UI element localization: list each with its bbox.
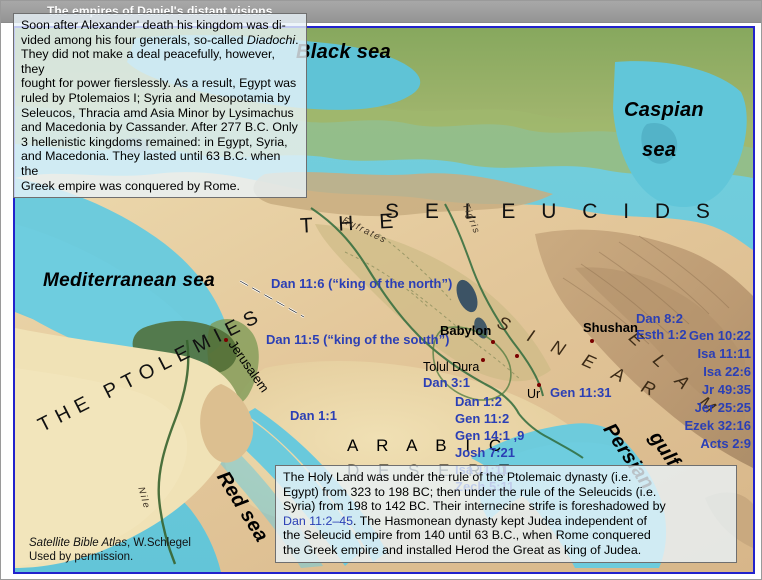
credit-author: , W.Schlegel	[127, 537, 191, 549]
info-top-line-1: Soon after Alexander' death his kingdom …	[21, 18, 300, 33]
credit-line-1: Satellite Bible Atlas, W.Schlegel	[29, 536, 191, 550]
info-top-line-10: Greek empire was conquered by Rome.	[21, 179, 300, 194]
city-dot-babylon	[491, 340, 495, 344]
info-top-line-2: vided among his four generals, so-called…	[21, 33, 300, 48]
info-top-line-9: and Macedonia. They lasted until 63 B.C.…	[21, 149, 300, 178]
map-credit: Satellite Bible Atlas, W.Schlegel Used b…	[29, 536, 191, 564]
info-bottom-line-4: Dan 11:2–45. The Hasmonean dynasty kept …	[283, 514, 730, 529]
info-box-top: Soon after Alexander' death his kingdom …	[13, 13, 307, 198]
credit-atlas-name: Satellite Bible Atlas	[29, 537, 127, 549]
info-top-line-3: They did not make a deal peacefully, how…	[21, 47, 300, 76]
city-dot-tolul-dura	[515, 354, 519, 358]
info-box-bottom: The Holy Land was under the rule of the …	[275, 465, 737, 563]
credit-line-2: Used by permission.	[29, 550, 191, 564]
info-bottom-line-2: Egypt) from 323 to 198 BC; then under th…	[283, 485, 730, 500]
city-dot-babylon-2	[481, 358, 485, 362]
info-top-line-7: and Macedonia by Cassander. After 277 B.…	[21, 120, 300, 135]
info-top-line-5: ruled by Ptolemaios I; Syria and Mesopot…	[21, 91, 300, 106]
info-top-line-4: fought for power fierslessly. As a resul…	[21, 76, 300, 91]
info-top-line-8: 3 hellenistic kingdoms remained: in Egyp…	[21, 135, 300, 150]
info-bottom-line-3: Syria) from 198 to 142 BC. Their interne…	[283, 499, 730, 514]
info-bottom-line-5: the Seleucid empire from 140 until 63 B.…	[283, 528, 730, 543]
screenshot-root: The empires of Daniel's distant visions	[0, 0, 762, 580]
city-dot-jerusalem	[224, 338, 228, 342]
ref-dan-11-2-45[interactable]: Dan 11:2–45	[283, 514, 353, 528]
info-bottom-line-6: the Greek empire and installed Herod the…	[283, 543, 730, 558]
city-dot-shushan	[590, 339, 594, 343]
info-top-line-6: Seleucos, Thracia amd Asia Minor by Lysi…	[21, 106, 300, 121]
city-dot-ur	[537, 383, 541, 387]
info-bottom-line-4-rest: . The Hasmonean dynasty kept Judea indep…	[353, 514, 647, 528]
term-diadochi: Diadochi	[247, 33, 295, 47]
info-bottom-line-1: The Holy Land was under the rule of the …	[283, 470, 730, 485]
